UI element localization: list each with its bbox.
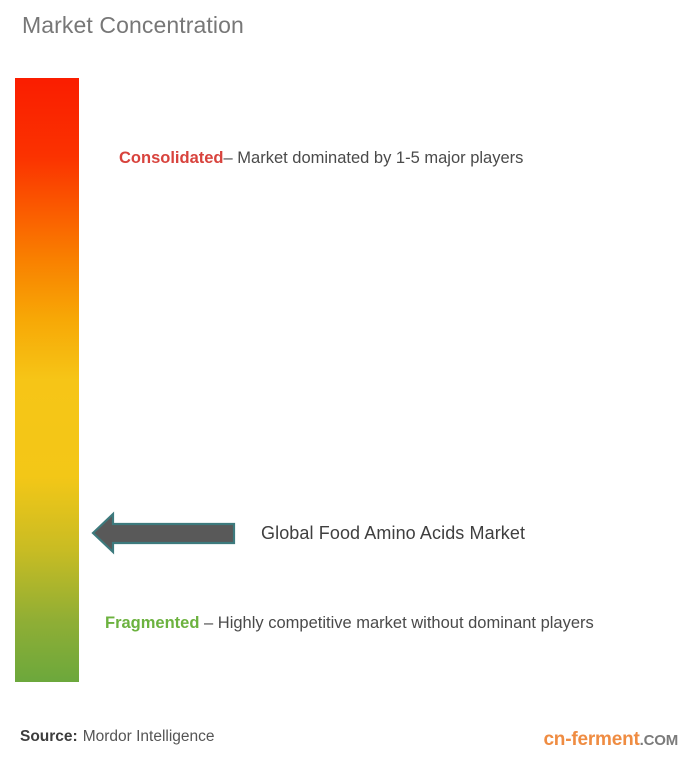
consolidated-description: – Market dominated by 1-5 major players	[224, 149, 524, 167]
market-position-label: Global Food Amino Acids Market	[261, 523, 525, 544]
fragmented-description: – Highly competitive market without domi…	[199, 614, 593, 632]
market-position-arrow	[91, 510, 236, 556]
market-concentration-gradient-bar	[15, 78, 79, 682]
logo-tld: com	[644, 732, 678, 749]
gradient-scale-svg	[15, 78, 79, 682]
source-label: Source:	[20, 728, 78, 745]
source-value: Mordor Intelligence	[83, 728, 215, 745]
consolidated-legend-row: Consolidated– Market dominated by 1-5 ma…	[119, 145, 679, 171]
source-note: Source:Mordor Intelligence	[20, 728, 215, 746]
page-title: Market Concentration	[22, 12, 244, 39]
arrow-left-icon	[91, 510, 236, 556]
consolidated-keyword: Consolidated	[119, 149, 224, 167]
fragmented-keyword: Fragmented	[105, 614, 199, 632]
site-logo[interactable]: cn-ferment.com	[543, 729, 678, 751]
logo-name: cn-ferment	[543, 729, 639, 750]
fragmented-legend-row: Fragmented – Highly competitive market w…	[105, 603, 670, 643]
